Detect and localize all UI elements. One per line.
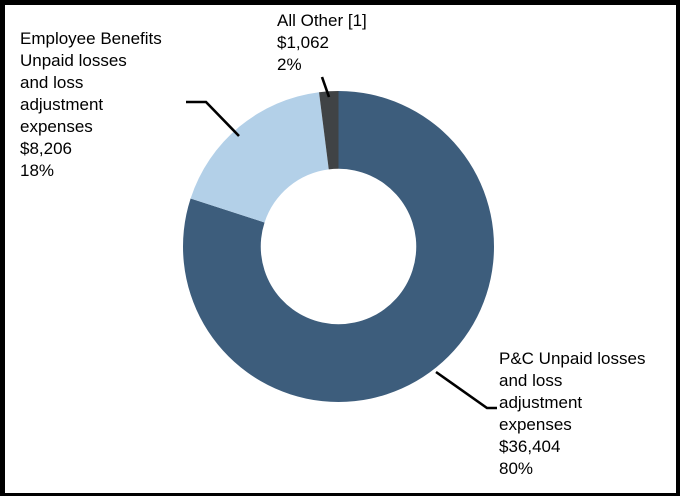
slice-label-employee-benefits: Employee Benefits Unpaid losses and loss… [20,28,195,182]
donut-slice-group [183,91,494,402]
slice-label-pc: P&C Unpaid losses and loss adjustment ex… [499,348,675,480]
slice-label-all-other: All Other [1] $1,062 2% [277,10,467,76]
leader-line-pc [436,372,497,408]
chart-page: Employee Benefits Unpaid losses and loss… [0,0,680,496]
donut-slice-employee-benefits-unpaid-losses[interactable] [191,92,329,222]
